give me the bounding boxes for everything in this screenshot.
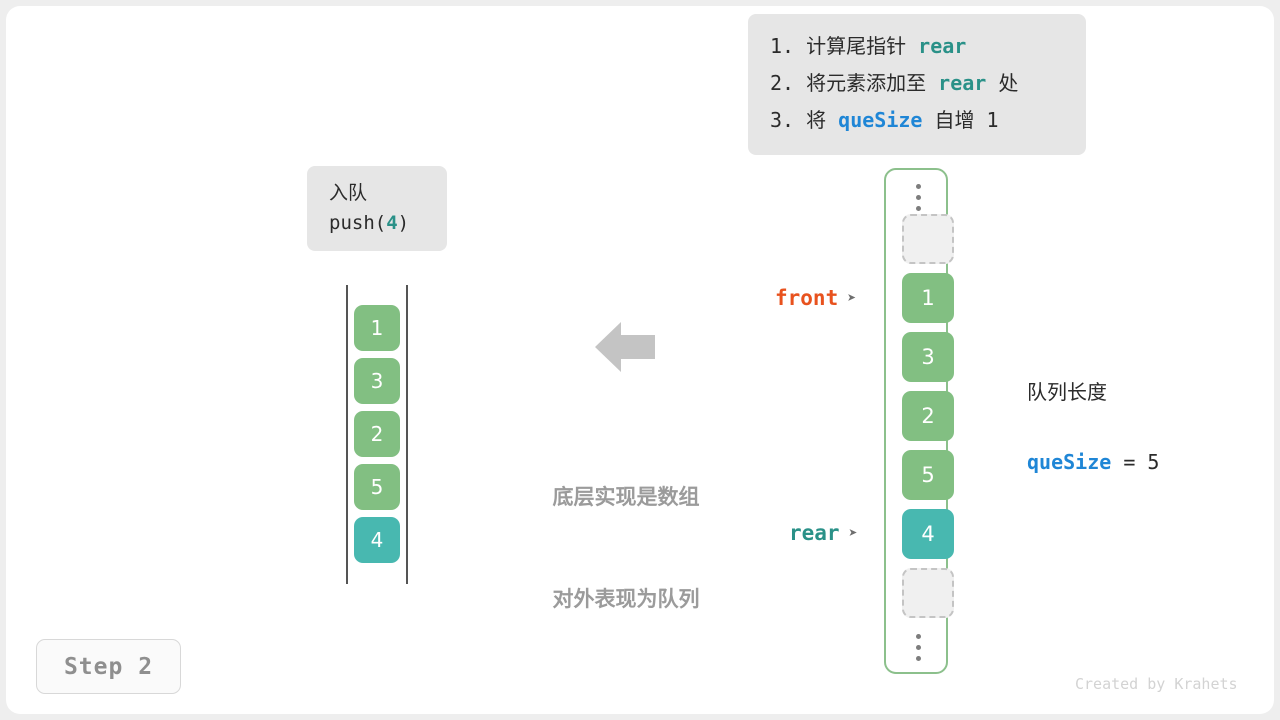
rear-pointer-arrow-icon: ➤ [849,524,858,542]
array-cell-new: 4 [902,509,954,559]
front-pointer: front ➤ [775,286,856,310]
queue-rail-right [406,285,408,584]
queue-size-note: 队列长度 queSize = 5 [1027,341,1159,516]
operation-call-prefix: push( [329,212,386,234]
queue-cell-new: 4 [354,517,400,563]
queue-cell: 5 [354,464,400,510]
step-badge-label: Step 2 [64,654,153,680]
queue-size-title: 队列长度 [1027,377,1159,408]
queue-abstraction: 1 3 2 5 4 [346,285,408,584]
operation-call-argument: 4 [386,212,397,234]
operation-title: 入队 [329,178,447,208]
queue-rail-left [346,285,348,584]
middle-caption-line-2: 对外表现为队列 [528,582,724,616]
instruction-3-suffix: 自增 1 [922,108,998,132]
array-cell-empty [902,214,954,264]
instruction-1-keyword: rear [918,34,966,58]
array-cell: 1 [902,273,954,323]
instruction-line-1: 1. 计算尾指针 rear [748,28,1086,65]
operation-label-box: 入队 push(4) [307,166,447,251]
instruction-2-keyword: rear [938,71,986,95]
instruction-box: 1. 计算尾指针 rear 2. 将元素添加至 rear 处 3. 将 queS… [748,14,1086,155]
diagram-canvas: 1. 计算尾指针 rear 2. 将元素添加至 rear 处 3. 将 queS… [0,0,1280,720]
front-pointer-arrow-icon: ➤ [847,289,856,307]
instruction-3-prefix: 3. 将 [770,108,838,132]
array-cell: 3 [902,332,954,382]
credit-text: Created by Krahets [1075,675,1238,693]
ellipsis-bottom-icon [916,634,921,667]
array-cell: 2 [902,391,954,441]
queue-cell: 3 [354,358,400,404]
middle-caption: 底层实现是数组 对外表现为队列 [528,412,724,684]
queue-cell: 1 [354,305,400,351]
instruction-2-suffix: 处 [986,71,1018,95]
queue-cell: 2 [354,411,400,457]
operation-call-suffix: ) [398,212,409,234]
queue-size-equals: = [1111,450,1147,474]
instruction-line-3: 3. 将 queSize 自增 1 [748,102,1086,139]
array-cell: 5 [902,450,954,500]
step-badge: Step 2 [36,639,181,694]
instruction-1-prefix: 1. 计算尾指针 [770,34,918,58]
ellipsis-top-icon [916,184,921,217]
array-cell-empty [902,568,954,618]
left-arrow-icon [595,322,655,372]
middle-caption-line-1: 底层实现是数组 [528,480,724,514]
array-frame: 1 3 2 5 4 [884,168,948,674]
front-pointer-label: front [775,286,838,310]
instruction-2-prefix: 2. 将元素添加至 [770,71,938,95]
queue-size-variable: queSize [1027,450,1111,474]
instruction-line-2: 2. 将元素添加至 rear 处 [748,65,1086,102]
operation-call: push(4) [329,208,447,238]
rear-pointer-label: rear [789,521,840,545]
queue-size-value: 5 [1147,450,1159,474]
instruction-3-keyword: queSize [838,108,922,132]
rear-pointer: rear ➤ [789,521,858,545]
queue-size-expression: queSize = 5 [1027,444,1159,480]
